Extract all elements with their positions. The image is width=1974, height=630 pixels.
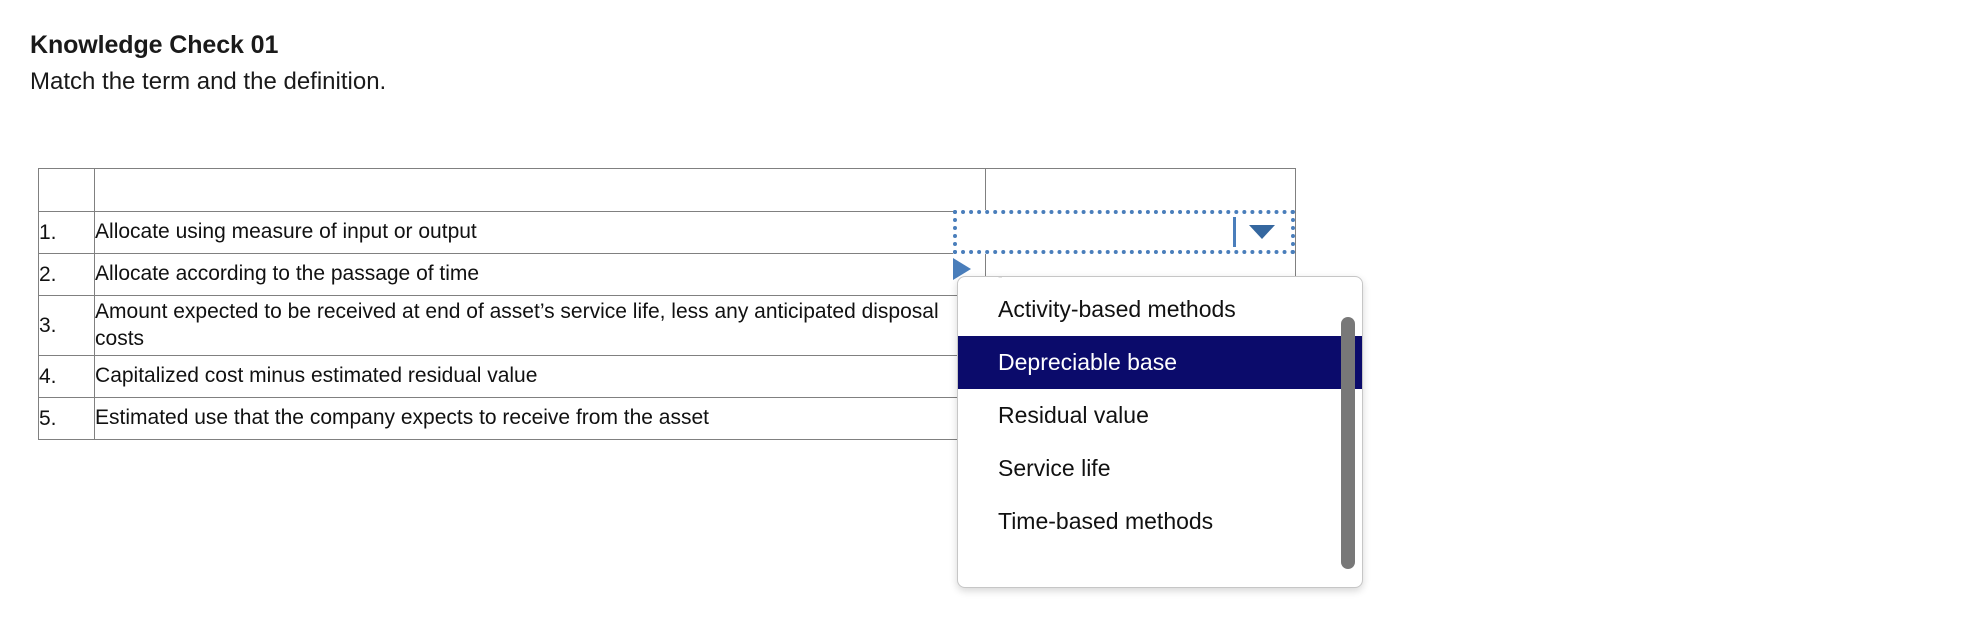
term-select-dropdown[interactable] — [953, 210, 1295, 254]
dropdown-option[interactable]: Time-based methods — [958, 495, 1362, 548]
row-definition: Amount expected to be received at end of… — [95, 296, 986, 356]
row-number: 1. — [39, 212, 95, 254]
dropdown-option[interactable]: Activity-based methods — [958, 283, 1362, 336]
chevron-down-icon[interactable] — [1249, 225, 1275, 239]
row-definition: Capitalized cost minus estimated residua… — [95, 356, 986, 398]
instruction-text: Match the term and the definition. — [30, 66, 1230, 97]
dropdown-option[interactable]: Residual value — [958, 389, 1362, 442]
row-definition: Allocate according to the passage of tim… — [95, 254, 986, 296]
scrollbar-thumb[interactable] — [1341, 317, 1355, 569]
row-number: 3. — [39, 296, 95, 356]
row-definition: Allocate using measure of input or outpu… — [95, 212, 986, 254]
dropdown-option-selected[interactable]: Depreciable base — [958, 336, 1362, 389]
select-divider — [1233, 217, 1236, 247]
row-definition: Estimated use that the company expects t… — [95, 398, 986, 440]
page-title: Knowledge Check 01 — [30, 30, 1230, 61]
header-cell-selection — [985, 169, 1295, 212]
row-number: 5. — [39, 398, 95, 440]
row-number: 4. — [39, 356, 95, 398]
header-cell-number — [39, 169, 95, 212]
row-number: 2. — [39, 254, 95, 296]
dropdown-notch-icon — [996, 276, 1048, 278]
dropdown-scrollbar[interactable] — [1341, 317, 1355, 569]
header-cell-definition — [95, 169, 986, 212]
dropdown-popup[interactable]: Activity-based methods Depreciable base … — [957, 276, 1363, 588]
heading-block: Knowledge Check 01 Match the term and th… — [30, 30, 1230, 97]
dropdown-option[interactable]: Service life — [958, 442, 1362, 495]
dropdown-option-list: Activity-based methods Depreciable base … — [958, 283, 1362, 587]
table-header-row — [39, 169, 1296, 212]
